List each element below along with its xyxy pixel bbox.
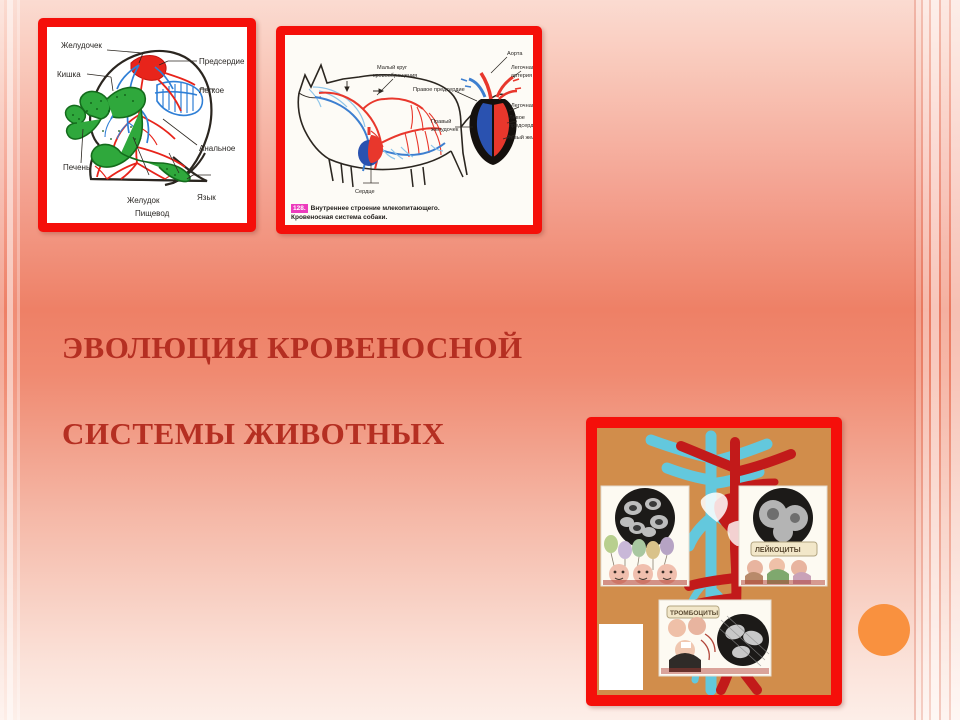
dog-diagram-frame[interactable]: Малый круг кровообращения Правое предсер… — [276, 26, 542, 234]
svg-text:Аорта: Аорта — [507, 51, 523, 57]
blood-collage-art: ЛЕЙКОЦИТЫ — [597, 428, 831, 695]
blood-collage-frame[interactable]: ЛЕЙКОЦИТЫ — [586, 417, 842, 706]
frog-diagram-image: Желудочек Предсердие Кишка Легкое Печень… — [47, 27, 247, 223]
svg-text:Правый: Правый — [431, 118, 451, 125]
svg-text:Печень: Печень — [63, 163, 90, 172]
svg-text:предсердие: предсердие — [509, 123, 533, 129]
svg-text:артерия: артерия — [511, 73, 532, 79]
svg-text:Пищевод: Пищевод — [135, 209, 170, 218]
caption-line-2: Кровеносная система собаки. — [291, 214, 387, 221]
svg-text:Малый круг: Малый круг — [377, 64, 407, 71]
svg-text:желудочек: желудочек — [431, 127, 459, 133]
presentation-slide: Желудочек Предсердие Кишка Легкое Печень… — [0, 0, 960, 720]
svg-text:Желудок: Желудок — [127, 196, 160, 205]
svg-text:Язык: Язык — [197, 193, 216, 202]
left-stripe-decoration — [0, 0, 26, 720]
dog-diagram-art: Малый круг кровообращения Правое предсер… — [285, 35, 533, 225]
svg-text:Левый желудочек: Левый желудочек — [507, 134, 533, 141]
page-title-line-1: ЭВОЛЮЦИЯ КРОВЕНОСНОЙ — [62, 305, 762, 391]
svg-text:Сердце: Сердце — [355, 189, 375, 195]
svg-text:ЛЕЙКОЦИТЫ: ЛЕЙКОЦИТЫ — [755, 545, 801, 554]
caption-number-badge: 128. — [291, 204, 308, 213]
svg-text:Левое: Левое — [509, 115, 525, 121]
svg-text:Легкое: Легкое — [199, 86, 225, 95]
caption-line-1: Внутреннее строение млекопитающего. — [311, 205, 440, 212]
svg-text:Желудочек: Желудочек — [61, 41, 102, 50]
svg-text:ТРОМБОЦИТЫ: ТРОМБОЦИТЫ — [670, 610, 718, 617]
frog-diagram-art: Желудочек Предсердие Кишка Легкое Печень… — [47, 27, 247, 223]
frog-diagram-frame[interactable]: Желудочек Предсердие Кишка Легкое Печень… — [38, 18, 256, 232]
dog-diagram-image: Малый круг кровообращения Правое предсер… — [285, 35, 533, 225]
orange-accent-circle — [858, 604, 910, 656]
svg-text:Кишка: Кишка — [57, 70, 81, 79]
svg-text:Легочная: Легочная — [511, 65, 533, 71]
right-stripe-decoration — [912, 0, 960, 720]
svg-text:Правое предсердие: Правое предсердие — [413, 87, 465, 93]
dog-diagram-caption: 128.Внутреннее строение млекопитающего. … — [291, 204, 529, 222]
svg-text:Легочная вена: Легочная вена — [511, 103, 533, 109]
blood-collage-image: ЛЕЙКОЦИТЫ — [597, 428, 831, 695]
svg-text:Анальное: Анальное — [199, 144, 236, 153]
svg-text:кровообращения: кровообращения — [373, 73, 417, 79]
svg-text:Предсердие: Предсердие — [199, 57, 245, 66]
